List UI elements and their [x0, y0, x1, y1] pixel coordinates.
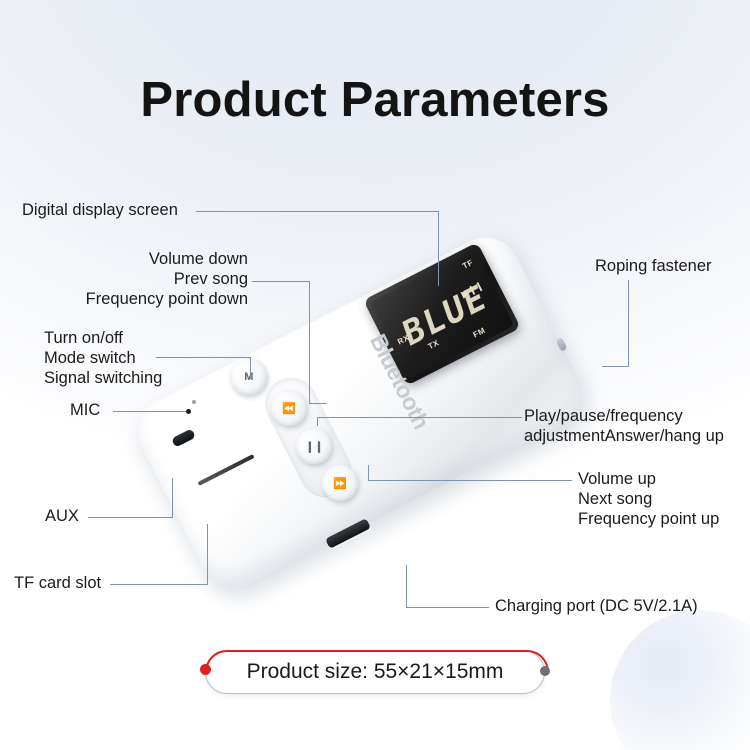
prev-button-icon: ⏪: [282, 402, 296, 415]
mode-button-label: M: [244, 371, 253, 383]
screen-indicator-fm: FM: [472, 326, 487, 340]
background-corner-glow: [610, 610, 750, 750]
leader-line-aux-h: [88, 517, 173, 518]
label-frequency-point-down: Frequency point down: [48, 289, 248, 309]
leader-line-usb-v: [406, 565, 407, 608]
leader-line-display-v: [438, 211, 439, 286]
product-size-dot-left: [200, 664, 211, 675]
label-prev-song: Prev song: [48, 269, 248, 289]
label-next-song: Next song: [578, 489, 652, 509]
leader-line-prev-h2: [309, 403, 327, 404]
label-mode-switch: Mode switch: [44, 348, 136, 368]
label-turn-on-off: Turn on/off: [44, 328, 123, 348]
label-volume-down: Volume down: [48, 249, 248, 269]
next-button-icon: ⏩: [333, 477, 347, 490]
label-roping-fastener: Roping fastener: [595, 256, 712, 276]
leader-line-prev-v: [309, 281, 310, 403]
label-volume-up: Volume up: [578, 469, 656, 489]
product-size-banner: Product size: 55×21×15mm: [205, 650, 545, 694]
leader-line-tf-v: [207, 524, 208, 585]
label-play-pause-line2: adjustmentAnswer/hang up: [524, 426, 724, 446]
leader-line-mode-h: [156, 357, 251, 358]
page-title: Product Parameters: [0, 72, 750, 128]
leader-line-play-v: [317, 417, 318, 426]
label-charging-port: Charging port (DC 5V/2.1A): [495, 596, 698, 616]
label-play-pause-line1: Play/pause/frequency: [524, 406, 683, 426]
leader-line-display-h: [196, 211, 439, 212]
leader-line-prev-h: [252, 281, 310, 282]
leader-line-mic-h: [113, 411, 188, 412]
leader-dot-mic: [186, 409, 191, 414]
product-size-dot-right: [540, 666, 550, 676]
play-pause-button-icon: ❙❙: [305, 440, 323, 453]
leader-line-mode-v: [250, 357, 251, 379]
product-parameters-page: Product Parameters BLUE TF ▶❙❙ RX TX FM …: [0, 0, 750, 750]
label-mic: MIC: [70, 400, 100, 420]
leader-line-play-h: [317, 417, 522, 418]
label-signal-switching: Signal switching: [44, 368, 162, 388]
leader-line-rope-h: [602, 366, 629, 367]
leader-line-volup-h: [368, 480, 572, 481]
label-tf-card-slot: TF card slot: [14, 573, 101, 593]
product-size-text: Product size: 55×21×15mm: [205, 650, 545, 694]
label-frequency-point-up: Frequency point up: [578, 509, 719, 529]
leader-line-rope-v: [628, 280, 629, 367]
leader-line-tf-h: [110, 584, 208, 585]
mic-hole: [192, 400, 196, 404]
leader-line-aux-v: [172, 478, 173, 518]
label-digital-display-screen: Digital display screen: [22, 200, 178, 220]
screen-indicator-tf: TF: [461, 258, 475, 271]
leader-line-usb-h: [406, 607, 489, 608]
label-aux: AUX: [45, 506, 79, 526]
leader-line-volup-v: [368, 465, 369, 481]
